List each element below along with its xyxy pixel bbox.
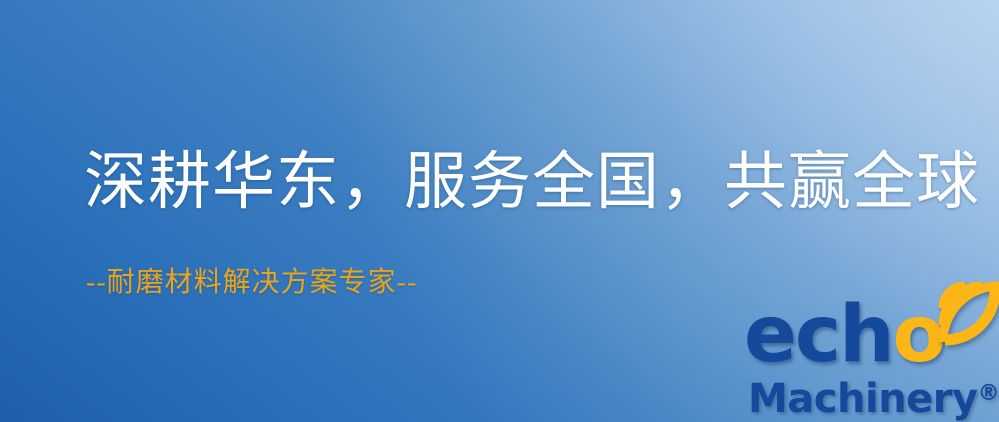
logo-o-group: o (893, 296, 945, 374)
promo-banner: 深耕华东，服务全国，共赢全球 --耐磨材料解决方案专家-- ech o (0, 0, 999, 422)
logo-wordmark-o: o (893, 290, 945, 380)
logo-wordmark: ech o (744, 296, 944, 372)
echo-machinery-logo[interactable]: ech o (744, 300, 999, 422)
logo-tagline: Machinery® (748, 372, 999, 421)
registered-trademark-icon: ® (978, 381, 999, 406)
banner-headline: 深耕华东，服务全国，共赢全球 (84, 148, 980, 216)
echo-waves-icon (939, 284, 999, 346)
logo-wordmark-ech: ech (744, 296, 893, 374)
logo-tagline-text: Machinery (748, 376, 978, 422)
banner-subheadline: --耐磨材料解决方案专家-- (86, 266, 417, 300)
